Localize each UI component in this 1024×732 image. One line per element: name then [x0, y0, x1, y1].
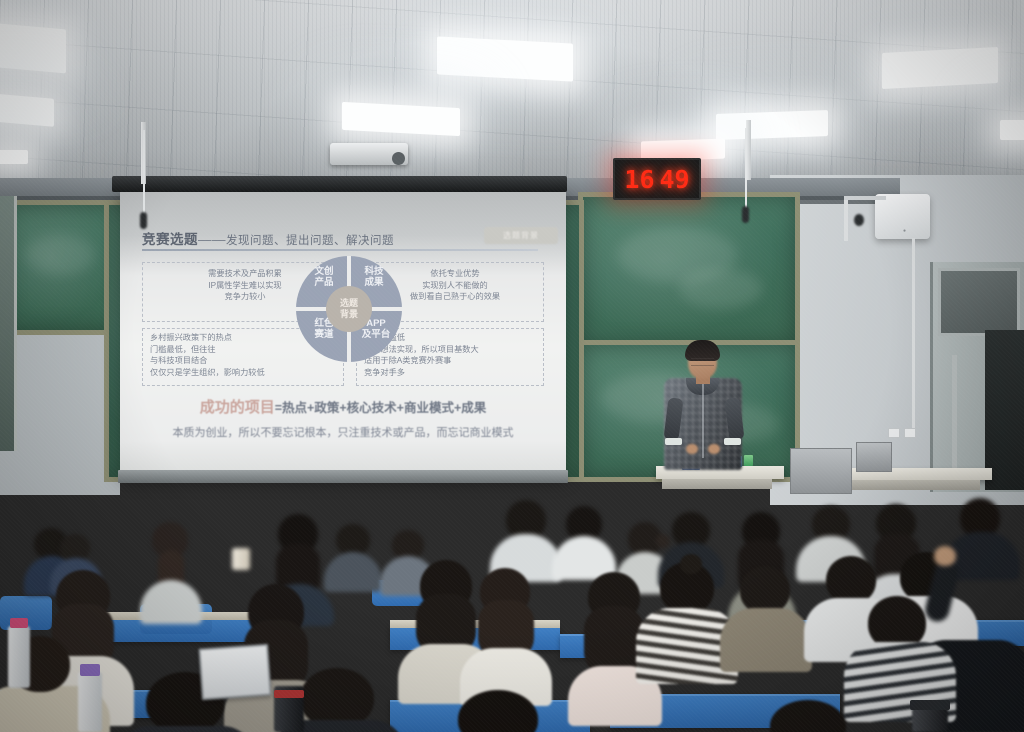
formula-lead: 成功的项目	[200, 399, 275, 416]
donut-label-line: 产品	[304, 277, 344, 288]
projection-screen: 竞赛选题——发现问题、提出问题、解决问题 选题背景 需要技术及产品积累 IP属性…	[120, 190, 566, 475]
water-bottle[interactable]	[232, 548, 250, 570]
chalk-box-green	[744, 455, 753, 466]
slide-title-sub: 发现问题、提出问题、解决问题	[226, 235, 394, 247]
slide-section-badge: 选题背景	[484, 227, 558, 244]
hair-bun	[680, 554, 702, 574]
tablet-device[interactable]	[198, 644, 271, 701]
projector-lens	[392, 152, 405, 165]
water-bottle[interactable]	[8, 626, 30, 688]
clock-minutes: 49	[660, 167, 690, 192]
presenter-hand-right	[708, 444, 720, 454]
microphone-cable	[745, 128, 747, 208]
presenter-glasses	[691, 358, 714, 366]
presenter-hand-left	[686, 444, 698, 454]
hand	[934, 546, 956, 566]
lecture-hall-photo: 16 49 竞赛选题——发现问题、提出问题、解决问题 选题背景 需要技术及产品积…	[0, 0, 1024, 732]
clock-minutes-value: 49	[660, 167, 690, 192]
hanging-microphone	[742, 206, 749, 223]
thermos-cap	[274, 690, 304, 698]
water-bottle[interactable]	[78, 672, 102, 732]
slide-title-dash: ——	[198, 232, 226, 247]
wall-conduit-horizontal	[844, 196, 886, 200]
clock-hours: 16	[624, 167, 654, 192]
chalkboard-upper	[578, 192, 800, 350]
ponytail	[656, 534, 670, 548]
door-opening[interactable]	[985, 330, 1024, 490]
donut-label-line: 文创	[304, 266, 344, 277]
shoulders	[324, 552, 382, 592]
presenter-cuff-left	[665, 438, 682, 445]
slide-title-row: 竞赛选题——发现问题、提出问题、解决问题	[142, 228, 542, 250]
thermos-cap	[910, 700, 950, 710]
donut-label-line: 及平台	[354, 329, 398, 340]
slide-title-underline	[142, 249, 538, 251]
wall-conduit-vertical	[844, 196, 848, 241]
ceiling-light-panel	[437, 36, 573, 81]
wall-socket	[888, 428, 900, 438]
shoulders	[140, 580, 202, 624]
donut-label-top-right: 科技 成果	[354, 266, 394, 288]
ceiling-light-panel	[716, 110, 828, 140]
ceiling-light-panel	[0, 150, 28, 164]
donut-label-line: 成果	[354, 277, 394, 288]
wall-conduit-vertical	[912, 238, 915, 428]
donut-center-hub: 选题 背景	[326, 286, 372, 332]
donut-label-line: 科技	[354, 266, 394, 277]
bottle-cap	[10, 618, 28, 628]
left-window	[0, 196, 17, 451]
slide-title-main: 竞赛选题	[142, 232, 198, 247]
donut-label-line: 赛道	[304, 329, 344, 340]
bottle-cap	[80, 664, 100, 676]
note-line: 仅仅只是学生组织，影响力较低	[150, 367, 330, 379]
ceiling-light-panel	[882, 47, 998, 89]
wall-speaker-brand-label: ●	[903, 228, 906, 234]
quadrant-donut-diagram: 文创 产品 科技 成果 红色 赛道 APP 及平台 选题 背景	[296, 256, 402, 362]
wall-mounted-mic	[854, 214, 864, 226]
equipment-cabinet	[790, 448, 852, 494]
ceiling-light-panel	[0, 93, 54, 127]
head	[826, 556, 876, 604]
microphone-cable	[143, 130, 145, 215]
digital-wall-clock: 16 49	[613, 158, 701, 200]
door-transom-window	[938, 268, 1020, 336]
equipment-cabinet	[856, 442, 892, 472]
ceiling-light-panel	[1000, 120, 1024, 140]
podium-desk-front	[662, 479, 772, 489]
projection-screen-bottom-bar	[118, 470, 568, 483]
presenter-jacket-zipper	[702, 382, 704, 458]
presenter-cuff-right	[724, 438, 741, 445]
note-line: 竞争对手多	[364, 367, 540, 379]
ceiling-light-panel	[0, 23, 66, 74]
shoulders	[720, 608, 812, 672]
presentation-slide: 竞赛选题——发现问题、提出问题、解决问题 选题背景 需要技术及产品积累 IP属性…	[120, 228, 566, 475]
head	[740, 566, 790, 614]
slide-bottom-note: 本质为创业，所以不要忘记根本，只注重技术或产品，而忘记商业模式	[120, 424, 566, 440]
formula-rest: =热点+政策+核心技术+商业模式+成果	[275, 401, 487, 415]
wall-socket	[904, 428, 916, 438]
head	[300, 668, 374, 728]
hanging-microphone	[140, 212, 147, 229]
slide-formula: 成功的项目=热点+政策+核心技术+商业模式+成果	[120, 396, 566, 417]
projection-screen-case	[112, 176, 567, 192]
clock-hours-value: 16	[624, 167, 654, 192]
side-desk-right-front	[850, 480, 980, 490]
hub-line: 选题	[340, 298, 358, 309]
slide-title: 竞赛选题——发现问题、提出问题、解决问题	[142, 228, 542, 248]
donut-label-top-left: 文创 产品	[304, 266, 344, 288]
hub-line: 背景	[340, 309, 358, 320]
